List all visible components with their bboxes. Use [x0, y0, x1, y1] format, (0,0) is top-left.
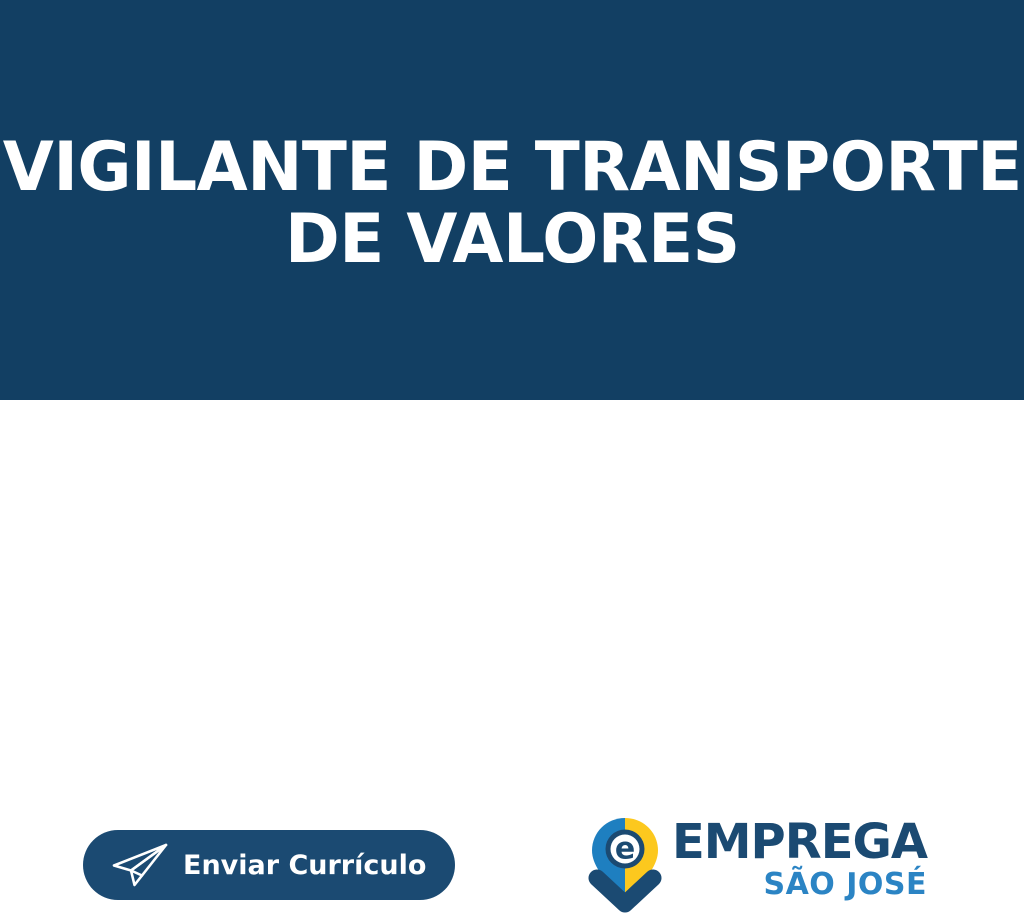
logo-primary-text: EMPREGA	[672, 820, 927, 866]
hero-banner: VIGILANTE DE TRANSPORTE DE VALORES	[0, 0, 1024, 400]
enviar-curriculo-label: Enviar Currículo	[183, 850, 426, 881]
location-pin-e-icon: e	[588, 816, 662, 918]
svg-text:e: e	[615, 832, 635, 867]
enviar-curriculo-button[interactable]: Enviar Currículo	[83, 830, 455, 900]
page-title: VIGILANTE DE TRANSPORTE DE VALORES	[0, 0, 1024, 400]
page-title-line-2: DE VALORES	[285, 204, 740, 276]
emprega-sao-jose-logo[interactable]: e EMPREGA SÃO JOSÉ	[588, 814, 924, 924]
job-posting-card: VIGILANTE DE TRANSPORTE DE VALORES Envia…	[0, 0, 1024, 536]
page-title-line-1: VIGILANTE DE TRANSPORTE	[2, 132, 1021, 204]
logo-secondary-text: SÃO JOSÉ	[763, 868, 927, 901]
footer-bar: Enviar Currículo e	[0, 400, 1024, 536]
logo-wordmark: EMPREGA SÃO JOSÉ	[672, 820, 927, 901]
paper-plane-icon	[109, 842, 171, 888]
